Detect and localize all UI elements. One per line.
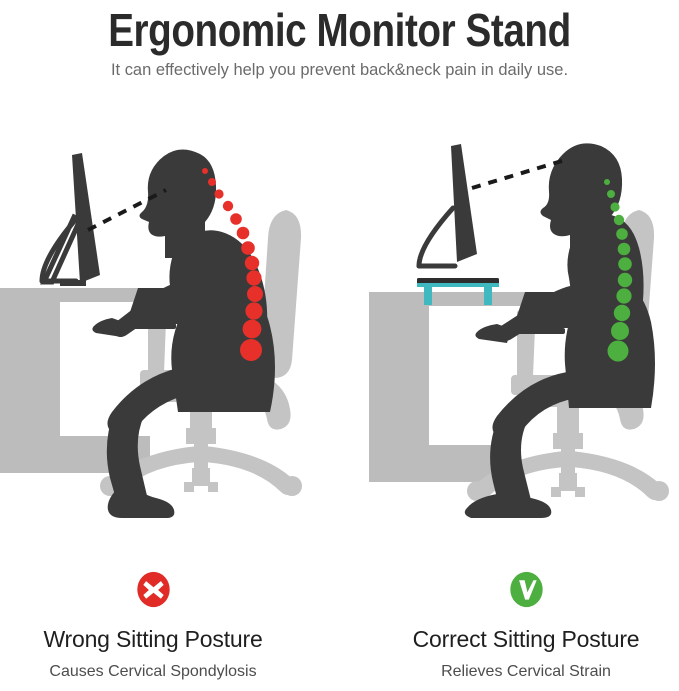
captions: Wrong Sitting Posture Causes Cervical Sp…: [0, 555, 679, 691]
wrong-posture-illustration: [0, 120, 340, 520]
caption-wrong: Wrong Sitting Posture Causes Cervical Sp…: [0, 555, 323, 682]
desktop-monitor: [42, 153, 100, 286]
caption-subtext: Causes Cervical Spondylosis: [0, 662, 323, 682]
header: Ergonomic Monitor Stand It can effective…: [0, 0, 679, 100]
page-title: Ergonomic Monitor Stand: [54, 2, 624, 58]
desktop-monitor: [419, 144, 477, 266]
x-circle-icon: [135, 571, 172, 608]
caption-heading: Wrong Sitting Posture: [0, 625, 323, 653]
caption-heading: Correct Sitting Posture: [356, 625, 679, 653]
check-circle-icon: [508, 571, 545, 608]
caption-subtext: Relieves Cervical Strain: [356, 662, 679, 682]
caption-correct: Correct Sitting Posture Relieves Cervica…: [356, 555, 679, 682]
product-infographic: Ergonomic Monitor Stand It can effective…: [0, 0, 679, 691]
page-subtitle: It can effectively help you prevent back…: [10, 58, 669, 82]
correct-posture-illustration: [339, 120, 679, 520]
illustration-stage: [0, 120, 679, 520]
